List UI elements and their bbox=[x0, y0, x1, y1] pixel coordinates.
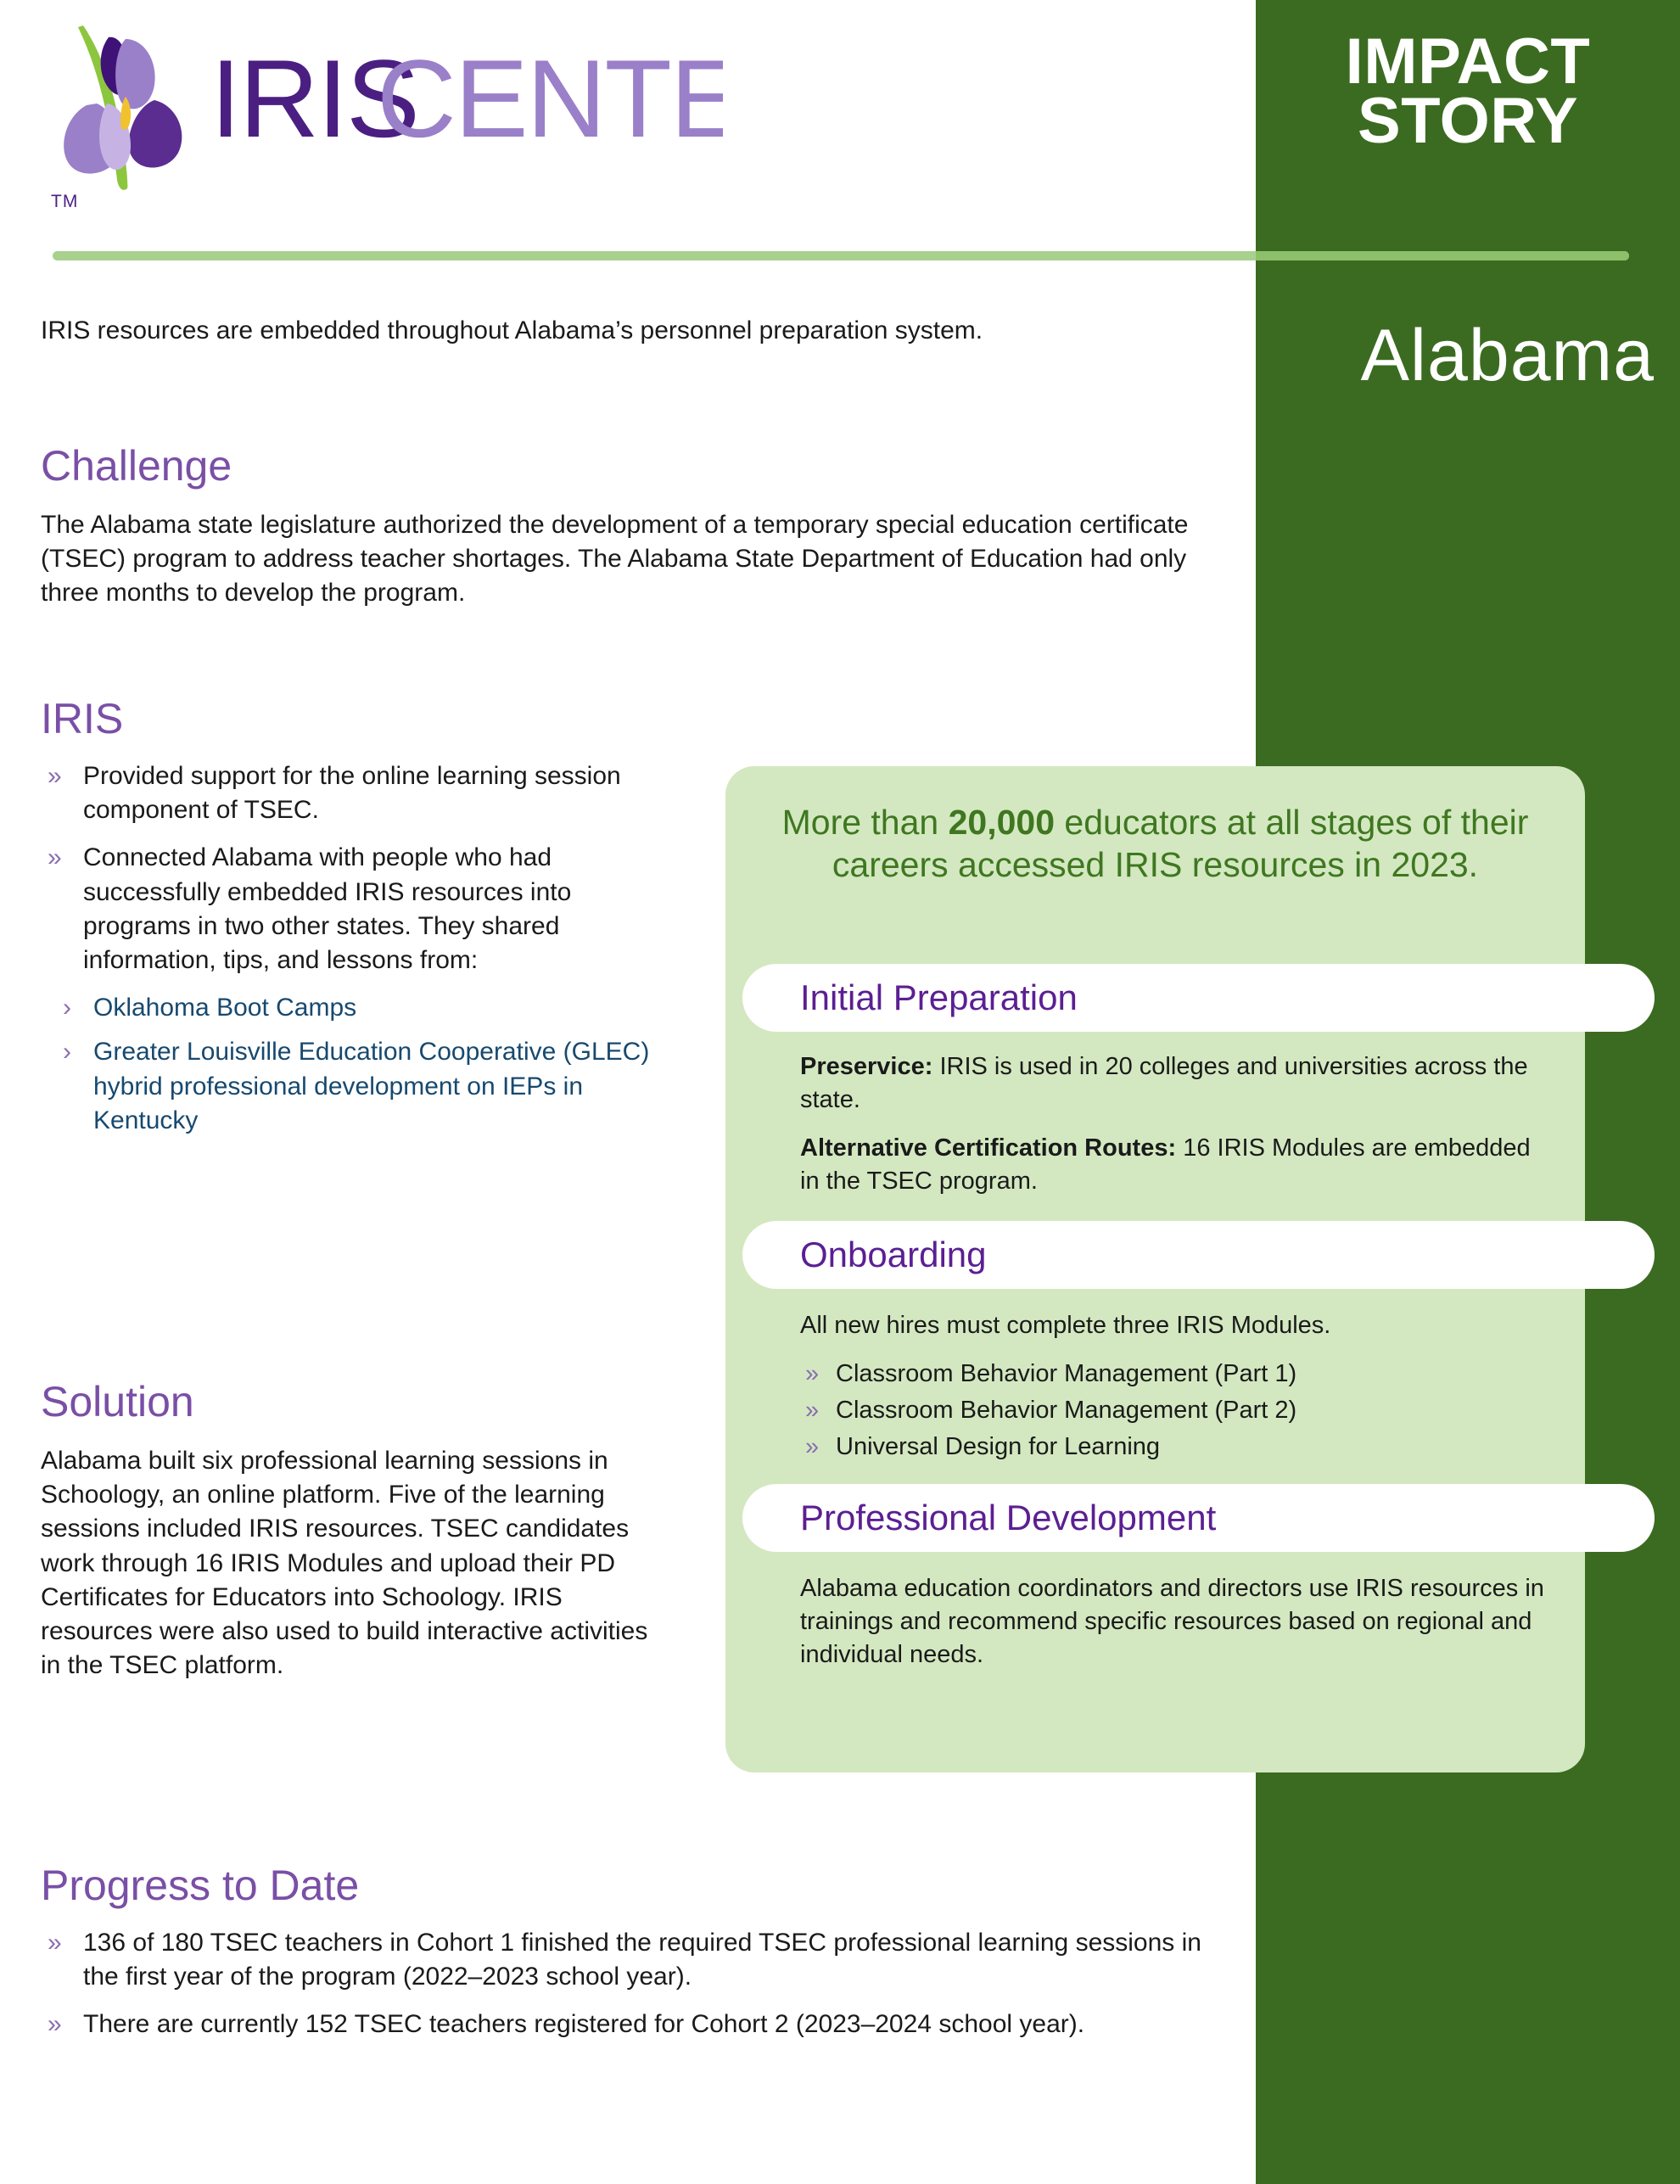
paragraph: Alabama education coordinators and direc… bbox=[800, 1572, 1550, 1672]
challenge-body: The Alabama state legislature authorized… bbox=[41, 508, 1220, 611]
iris-bullet-list: Provided support for the online learning… bbox=[41, 759, 686, 977]
list-item: Universal Design for Learning bbox=[800, 1431, 1550, 1464]
list-item: Connected Alabama with people who had su… bbox=[41, 841, 686, 977]
panel-title-onboarding: Onboarding bbox=[742, 1221, 1655, 1289]
onboarding-module-list: Classroom Behavior Management (Part 1) C… bbox=[800, 1358, 1550, 1464]
onboarding-intro: All new hires must complete three IRIS M… bbox=[800, 1309, 1550, 1342]
paragraph: Alternative Certification Routes: 16 IRI… bbox=[800, 1132, 1550, 1198]
list-item[interactable]: Oklahoma Boot Camps bbox=[51, 991, 686, 1025]
iris-sub-bullet-list: Oklahoma Boot Camps Greater Louisville E… bbox=[51, 991, 686, 1138]
intro-text: IRIS resources are embedded throughout A… bbox=[41, 314, 1152, 348]
intro-block: IRIS resources are embedded throughout A… bbox=[41, 314, 1220, 348]
section-progress-to-date: Progress to Date 136 of 180 TSEC teacher… bbox=[41, 1862, 1229, 2056]
iris-heading: IRIS bbox=[41, 696, 686, 742]
trademark-label: TM bbox=[51, 192, 78, 212]
iris-logo-svg: IRIS CENTER bbox=[44, 22, 723, 204]
panel-title-professional-development: Professional Development bbox=[742, 1484, 1655, 1552]
paragraph-label: Preservice: bbox=[800, 1053, 932, 1080]
panel-body-initial-preparation: Preservice: IRIS is used in 20 colleges … bbox=[800, 1050, 1550, 1212]
challenge-heading: Challenge bbox=[41, 443, 1229, 490]
panel-title-label: Onboarding bbox=[800, 1237, 987, 1273]
list-item: Classroom Behavior Management (Part 2) bbox=[800, 1394, 1550, 1427]
panel-title-initial-preparation: Initial Preparation bbox=[742, 964, 1655, 1032]
header-divider-rule-green bbox=[1256, 251, 1629, 260]
panel-body-professional-development: Alabama education coordinators and direc… bbox=[800, 1572, 1550, 1687]
list-item: There are currently 152 TSEC teachers re… bbox=[41, 2008, 1229, 2041]
paragraph-label: Alternative Certification Routes: bbox=[800, 1134, 1176, 1162]
section-challenge: Challenge The Alabama state legislature … bbox=[41, 443, 1229, 611]
stat-headline: More than 20,000 educators at all stages… bbox=[751, 802, 1560, 886]
progress-heading: Progress to Date bbox=[41, 1862, 1229, 1909]
iris-center-logo: IRIS CENTER TM bbox=[44, 22, 723, 217]
section-solution: Solution Alabama built six professional … bbox=[41, 1379, 669, 1683]
panel-title-label: Professional Development bbox=[800, 1500, 1216, 1536]
list-item: 136 of 180 TSEC teachers in Cohort 1 fin… bbox=[41, 1926, 1229, 1994]
list-item[interactable]: Greater Louisville Education Cooperative… bbox=[51, 1035, 686, 1138]
svg-text:CENTER: CENTER bbox=[377, 36, 723, 160]
panel-body-onboarding: All new hires must complete three IRIS M… bbox=[800, 1309, 1550, 1466]
impact-story-page: IRIS CENTER TM IMPACT STORY Alabama IRIS… bbox=[0, 0, 1680, 2184]
paragraph: Preservice: IRIS is used in 20 colleges … bbox=[800, 1050, 1550, 1117]
badge-line-impact: IMPACT bbox=[1256, 32, 1680, 92]
list-item: Classroom Behavior Management (Part 1) bbox=[800, 1358, 1550, 1391]
stat-card: More than 20,000 educators at all stages… bbox=[725, 766, 1585, 1772]
badge-line-story: STORY bbox=[1256, 92, 1680, 151]
solution-heading: Solution bbox=[41, 1379, 669, 1425]
solution-body: Alabama built six professional learning … bbox=[41, 1444, 652, 1683]
section-iris: IRIS Provided support for the online lea… bbox=[41, 696, 686, 1148]
list-item: Provided support for the online learning… bbox=[41, 759, 686, 827]
impact-story-badge: IMPACT STORY bbox=[1256, 32, 1680, 151]
state-title: Alabama bbox=[1256, 314, 1655, 398]
panel-title-label: Initial Preparation bbox=[800, 980, 1078, 1016]
stat-headline-pre: More than bbox=[782, 803, 949, 842]
progress-bullet-list: 136 of 180 TSEC teachers in Cohort 1 fin… bbox=[41, 1926, 1229, 2042]
stat-headline-number: 20,000 bbox=[949, 803, 1055, 842]
